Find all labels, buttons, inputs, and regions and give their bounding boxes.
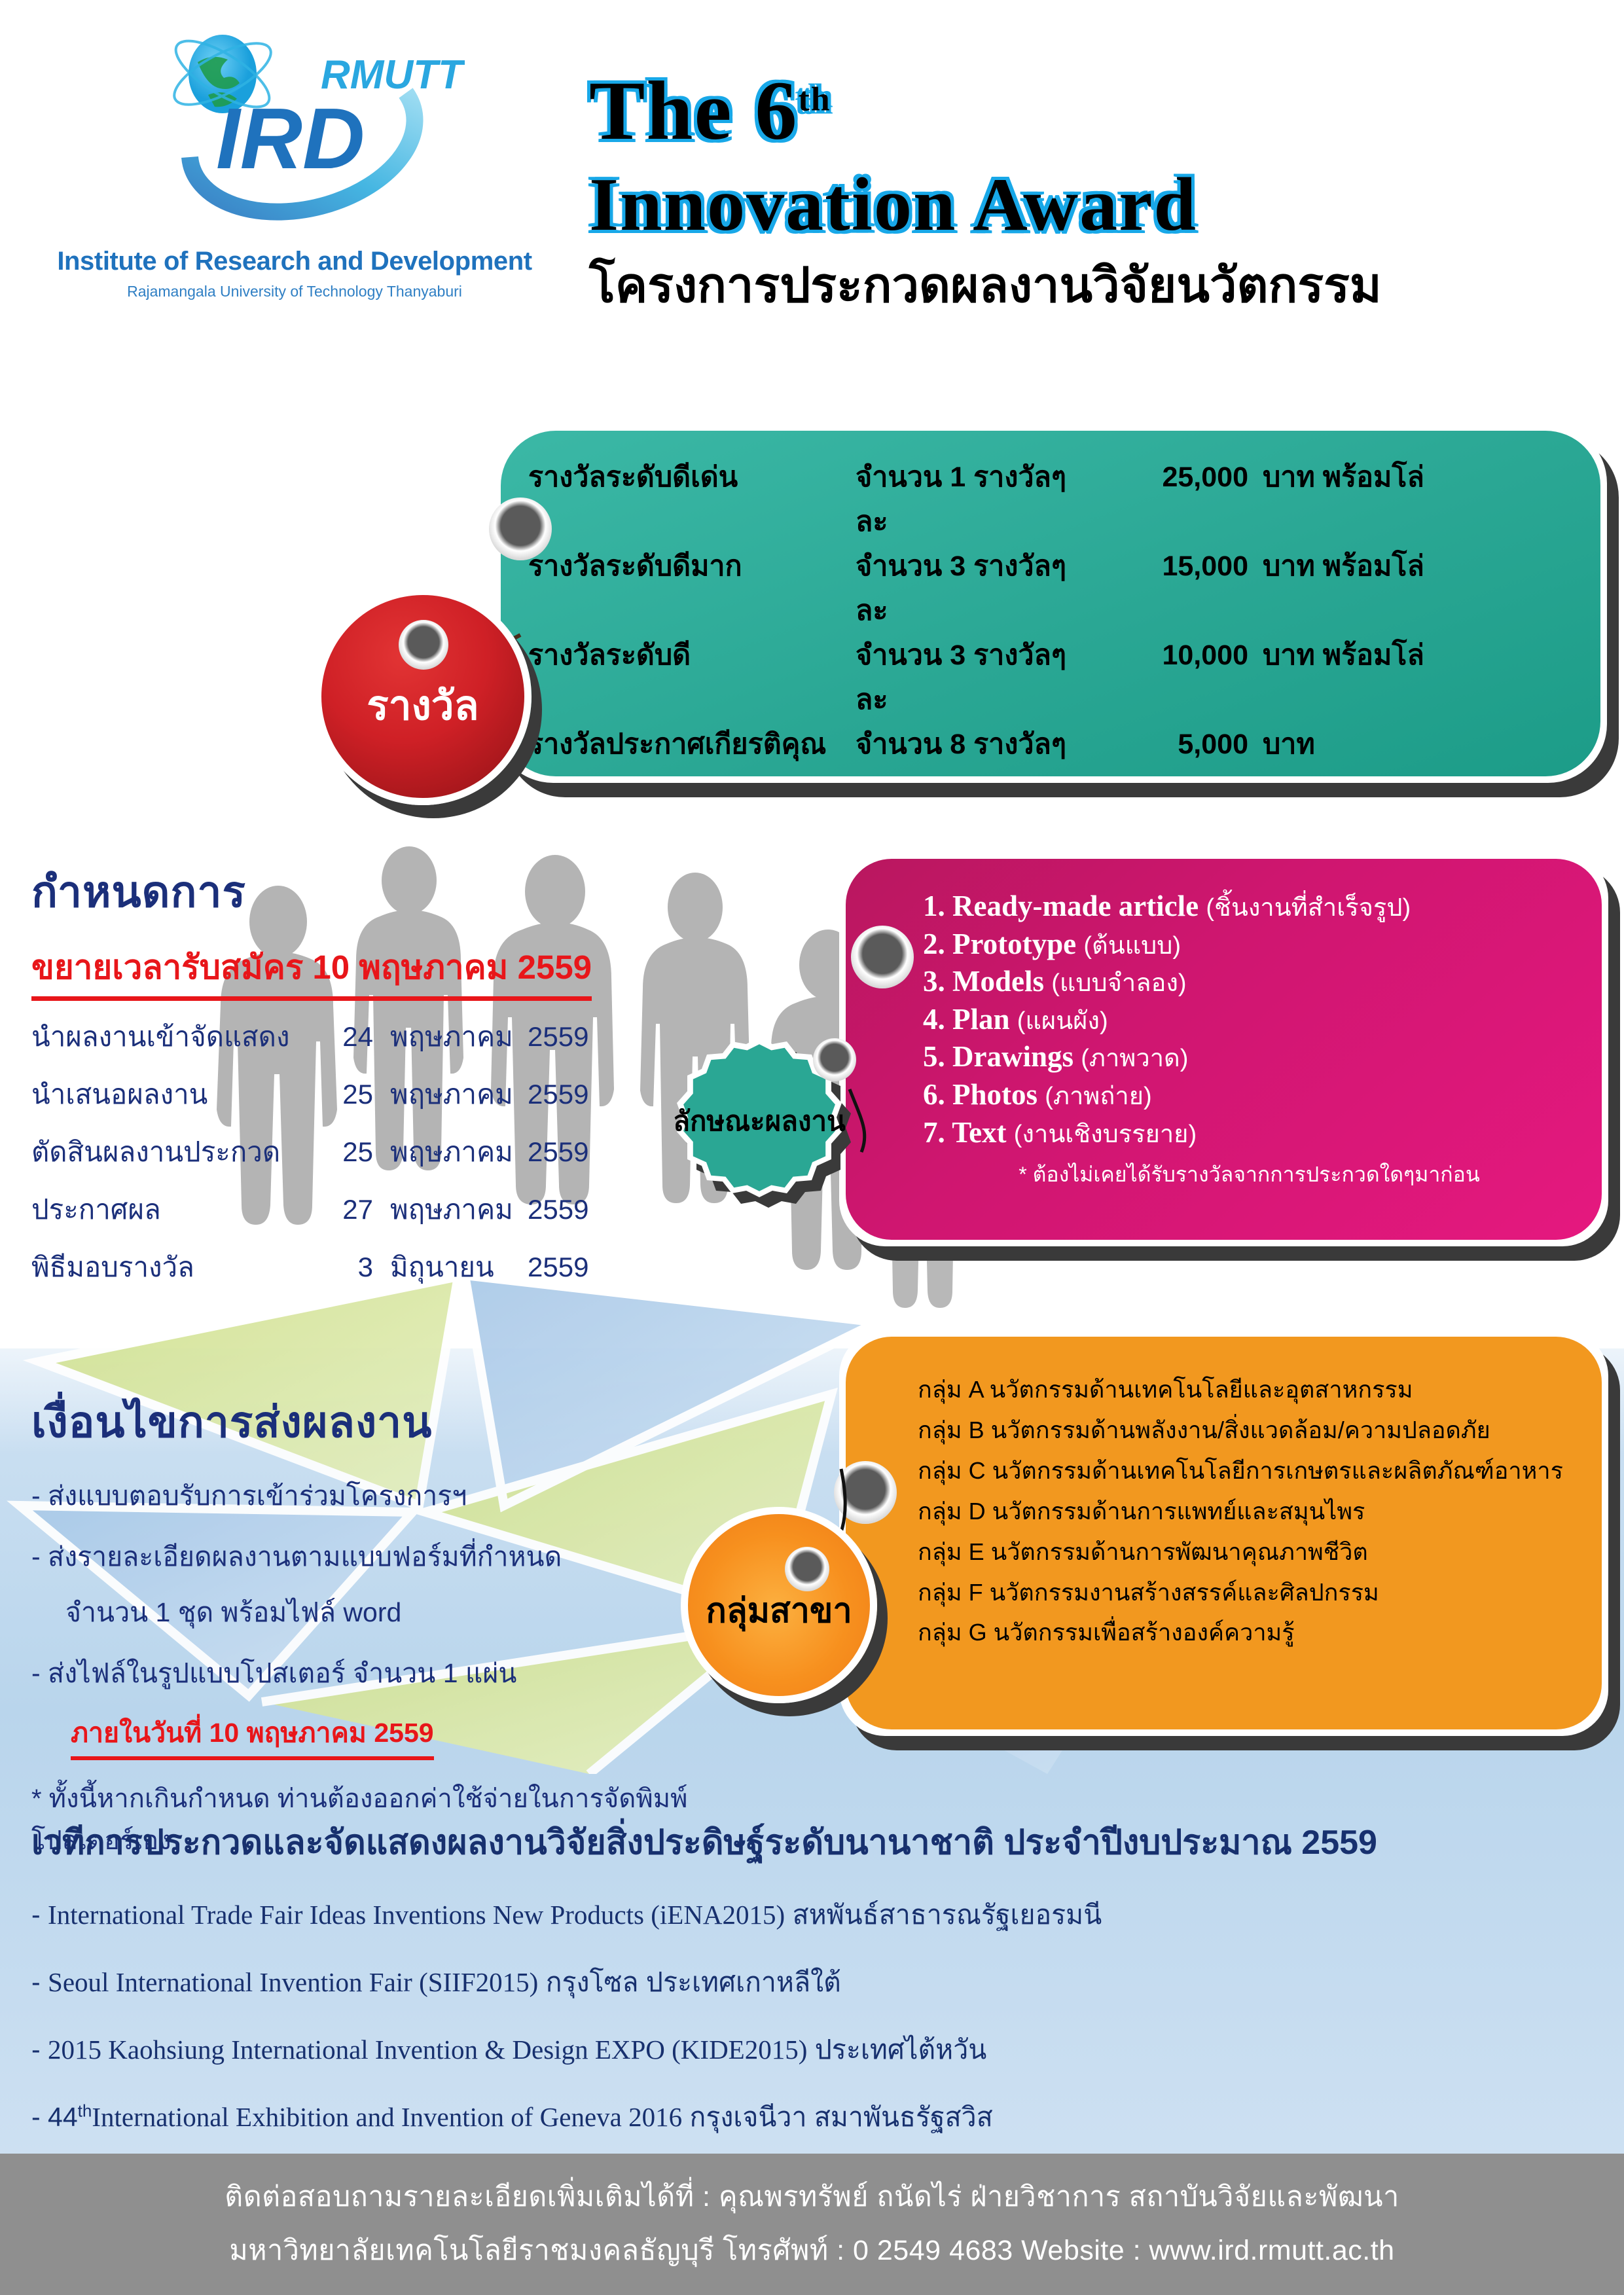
badge-awards-label: รางวัล [367,674,478,738]
work-types-footnote: * ต้องไม่เคยได้รับรางวัลจากการประกวดใดๆม… [923,1158,1576,1191]
award-quantity: จำนวน 3 รางวัลๆ ละ [856,632,1098,721]
intl-th: กรุงเจนีวา สมาพันธรัฐสวิส [682,2102,993,2132]
international-section: เวทีการประกวดและจัดแสดงผลงานวิจัยสิ่งประ… [31,1815,1589,2206]
schedule-section: กำหนดการ ขยายเวลารับสมัคร 10 พฤษภาคม 255… [31,858,686,1289]
badge-groups[interactable]: กลุ่มสาขา [681,1507,877,1703]
schedule-year: 2559 [528,1194,613,1225]
list-item: - International Trade Fair Ideas Inventi… [31,1894,1589,1936]
award-name: รางวัลระดับดีมาก [528,543,856,588]
list-item: - Seoul International Invention Fair (SI… [31,1961,1589,2004]
schedule-year: 2559 [528,1252,613,1283]
schedule-day: 24 [339,1021,390,1053]
title-thai: โครงการประกวดผลงานวิจัยนวัตกรรม [589,257,1610,313]
badge-awards[interactable]: รางวัล [314,588,532,805]
conditions-section: เงื่อนไขการส่งผลงาน - ส่งแบบตอบรับการเข้… [31,1388,778,1861]
award-quantity: จำนวน 3 รางวัลๆ ละ [856,543,1098,632]
list-item: กลุ่ม D นวัตกรรมด้านการแพทย์และสมุนไพร [918,1491,1579,1532]
award-amount: 10,000 [1098,640,1248,672]
award-quantity: จำนวน 1 รางวัลๆ ละ [856,454,1098,543]
type-th: (ชิ้นงานที่สำเร็จรูป) [1206,894,1411,922]
poster-title: The 6th Innovation Award โครงการประกวดผล… [589,69,1610,313]
award-tail: บาท [1248,721,1315,766]
type-th: (งานเชิงบรรยาย) [1014,1121,1197,1148]
type-number: 1. [923,890,945,922]
list-item: 7. Text (งานเชิงบรรยาย) [923,1114,1576,1152]
work-types-card-body: 1. Ready-made article (ชิ้นงานที่สำเร็จร… [846,859,1602,1240]
list-item: กลุ่ม E นวัตกรรมด้านการพัฒนาคุณภาพชีวิต [918,1532,1579,1572]
eyelet-icon [399,620,448,670]
type-number: 2. [923,928,945,960]
intl-prefix: - [31,1900,48,1930]
intl-en: Seoul International Invention Fair (SIIF… [48,1967,538,1997]
award-name: รางวัลประกาศเกียรติคุณ [528,721,856,766]
groups-card: กลุ่ม A นวัตกรรมด้านเทคโนโลยีและอุตสาหกร… [839,1330,1608,1736]
award-amount: 5,000 [1098,729,1248,761]
type-en: Prototype [952,928,1076,960]
schedule-extended-deadline: ขยายเวลารับสมัคร 10 พฤษภาคม 2559 [31,941,592,1001]
type-number: 7. [923,1116,945,1149]
badge-groups-label: กลุ่มสาขา [706,1583,852,1637]
table-row: นำผลงานเข้าจัดแสดง 24 พฤษภาคม 2559 [31,1015,686,1058]
intl-th: กรุงโซล ประเทศเกาหลีใต้ [538,1967,840,1997]
intl-en: International Exhibition and Invention o… [92,2102,682,2132]
intl-prefix: - [31,2034,48,2065]
schedule-event: นำผลงานเข้าจัดแสดง [31,1015,339,1058]
type-en: Plan [952,1003,1010,1036]
table-row: ประกาศผล 27 พฤษภาคม 2559 [31,1188,686,1231]
type-th: (ภาพวาด) [1081,1045,1188,1072]
svg-text:IRD: IRD [216,90,365,187]
type-th: (แผนผัง) [1017,1007,1108,1035]
type-number: 6. [923,1078,945,1111]
type-number: 3. [923,965,945,998]
intl-prefix: - 44 [31,2102,78,2132]
table-row: รางวัลระดับดีเด่น จำนวน 1 รางวัลๆ ละ 25,… [528,454,1573,543]
schedule-year: 2559 [528,1079,613,1110]
list-item: - 44thInternational Exhibition and Inven… [31,2096,1589,2139]
schedule-event: พิธีมอบรางวัล [31,1246,339,1289]
schedule-event: ประกาศผล [31,1188,339,1231]
list-item: - ส่งไฟล์ในรูปแบบโปสเตอร์ จำนวน 1 แผ่น [31,1652,778,1695]
eyelet-icon [785,1547,829,1591]
table-row: รางวัลระดับดีมาก จำนวน 3 รางวัลๆ ละ 15,0… [528,543,1573,632]
list-item: กลุ่ม G นวัตกรรมเพื่อสร้างองค์ความรู้ [918,1612,1579,1653]
title-line-2: Innovation Award [589,167,1610,243]
schedule-day: 25 [339,1079,390,1110]
table-row: ตัดสินผลงานประกวด 25 พฤษภาคม 2559 [31,1130,686,1174]
table-row: นำเสนอผลงาน 25 พฤษภาคม 2559 [31,1073,686,1116]
list-item: 2. Prototype (ต้นแบบ) [923,926,1576,964]
eyelet-icon [813,1038,856,1081]
schedule-day: 27 [339,1194,390,1225]
schedule-month: มิถุนายน [390,1246,528,1289]
type-en: Photos [952,1078,1038,1111]
intl-th: ประเทศไต้หวัน [807,2034,986,2065]
footer-line-2: มหาวิทยาลัยเทคโนโลยีราชมงคลธัญบุรี โทรศั… [229,2224,1394,2278]
list-item: - ส่งแบบตอบรับการเข้าร่วมโครงการฯ [31,1475,778,1517]
footer-line-1: ติดต่อสอบถามรายละเอียดเพิ่มเติมได้ที่ : … [225,2171,1399,2224]
list-item: กลุ่ม C นวัตกรรมด้านเทคโนโลยีการเกษตรและ… [918,1451,1579,1491]
intl-en: 2015 Kaohsiung International Invention &… [48,2034,807,2065]
type-number: 4. [923,1003,945,1036]
list-item: - ส่งรายละเอียดผลงานตามแบบฟอร์มที่กำหนด [31,1536,778,1578]
award-tail: บาท พร้อมโล่ [1248,632,1424,677]
schedule-year: 2559 [528,1021,613,1053]
title-line-1: The 6th [589,69,1610,153]
schedule-day: 25 [339,1136,390,1168]
list-item: 4. Plan (แผนผัง) [923,1001,1576,1039]
badge-work-types[interactable]: ลักษณะผลงาน [661,1033,857,1210]
type-th: (ภาพถ่าย) [1045,1083,1151,1110]
conditions-sub-item: จำนวน 1 ชุด พร้อมไฟล์ word [31,1591,778,1634]
schedule-month: พฤษภาคม [390,1073,528,1116]
schedule-year: 2559 [528,1136,613,1168]
conditions-heading: เงื่อนไขการส่งผลงาน [31,1388,778,1456]
list-item: กลุ่ม F นวัตกรรมงานสร้างสรรค์และศิลปกรรม [918,1572,1579,1613]
groups-card-body: กลุ่ม A นวัตกรรมด้านเทคโนโลยีและอุตสาหกร… [846,1337,1602,1729]
ird-logo-icon: RMUTT IRD [124,16,465,252]
type-en: Ready-made article [952,890,1199,922]
table-row: รางวัลระดับดี จำนวน 3 รางวัลๆ ละ 10,000 … [528,632,1573,721]
type-number: 5. [923,1040,945,1073]
international-heading: เวทีการประกวดและจัดแสดงผลงานวิจัยสิ่งประ… [31,1815,1589,1869]
list-item: กลุ่ม B นวัตกรรมด้านพลังงาน/สิ่งแวดล้อม/… [918,1410,1579,1451]
ird-logo-block: RMUTT IRD Institute of Research and Deve… [39,16,550,363]
eyelet-icon [489,497,552,560]
award-name: รางวัลระดับดี [528,632,856,677]
intl-prefix: - [31,1967,48,1997]
logo-university-name: Rajamangala University of Technology Tha… [39,283,550,300]
intl-th: สหพันธ์สาธารณรัฐเยอรมนี [785,1900,1102,1930]
schedule-heading: กำหนดการ [31,858,686,926]
awards-card: รางวัลระดับดีเด่น จำนวน 1 รางวัลๆ ละ 25,… [494,424,1607,783]
list-item: 6. Photos (ภาพถ่าย) [923,1076,1576,1114]
awards-card-body: รางวัลระดับดีเด่น จำนวน 1 รางวัลๆ ละ 25,… [501,431,1600,776]
list-item: 1. Ready-made article (ชิ้นงานที่สำเร็จร… [923,888,1576,926]
intl-sup: th [78,2101,92,2120]
list-item: 3. Models (แบบจำลอง) [923,963,1576,1001]
type-en: Text [952,1116,1006,1149]
award-amount: 15,000 [1098,551,1248,583]
eyelet-icon [834,1461,897,1524]
title-ordinal-suffix: th [798,81,831,118]
award-amount: 25,000 [1098,461,1248,494]
work-types-card: 1. Ready-made article (ชิ้นงานที่สำเร็จร… [839,852,1608,1246]
footer-contact-bar: ติดต่อสอบถามรายละเอียดเพิ่มเติมได้ที่ : … [0,2154,1624,2295]
schedule-month: พฤษภาคม [390,1015,528,1058]
list-item: กลุ่ม A นวัตกรรมด้านเทคโนโลยีและอุตสาหกร… [918,1369,1579,1410]
type-en: Models [952,965,1044,998]
schedule-event: นำเสนอผลงาน [31,1073,339,1116]
type-th: (แบบจำลอง) [1051,969,1186,997]
conditions-deadline: ภายในวันที่ 10 พฤษภาคม 2559 [71,1712,434,1760]
eyelet-icon [851,926,914,988]
schedule-event: ตัดสินผลงานประกวด [31,1130,339,1174]
list-item: 5. Drawings (ภาพวาด) [923,1038,1576,1076]
award-tail: บาท พร้อมโล่ [1248,543,1424,588]
award-tail: บาท พร้อมโล่ [1248,454,1424,499]
table-row: พิธีมอบรางวัล 3 มิถุนายน 2559 [31,1246,686,1289]
intl-en: International Trade Fair Ideas Invention… [48,1900,785,1930]
type-en: Drawings [952,1040,1074,1073]
award-quantity: จำนวน 8 รางวัลๆ ละ [856,721,1098,776]
type-th: (ต้นแบบ) [1083,932,1181,960]
schedule-month: พฤษภาคม [390,1130,528,1174]
schedule-month: พฤษภาคม [390,1188,528,1231]
list-item: - 2015 Kaohsiung International Invention… [31,2029,1589,2071]
table-row: รางวัลประกาศเกียรติคุณ จำนวน 8 รางวัลๆ ล… [528,721,1573,776]
award-name: รางวัลระดับดีเด่น [528,454,856,499]
schedule-day: 3 [339,1252,390,1283]
